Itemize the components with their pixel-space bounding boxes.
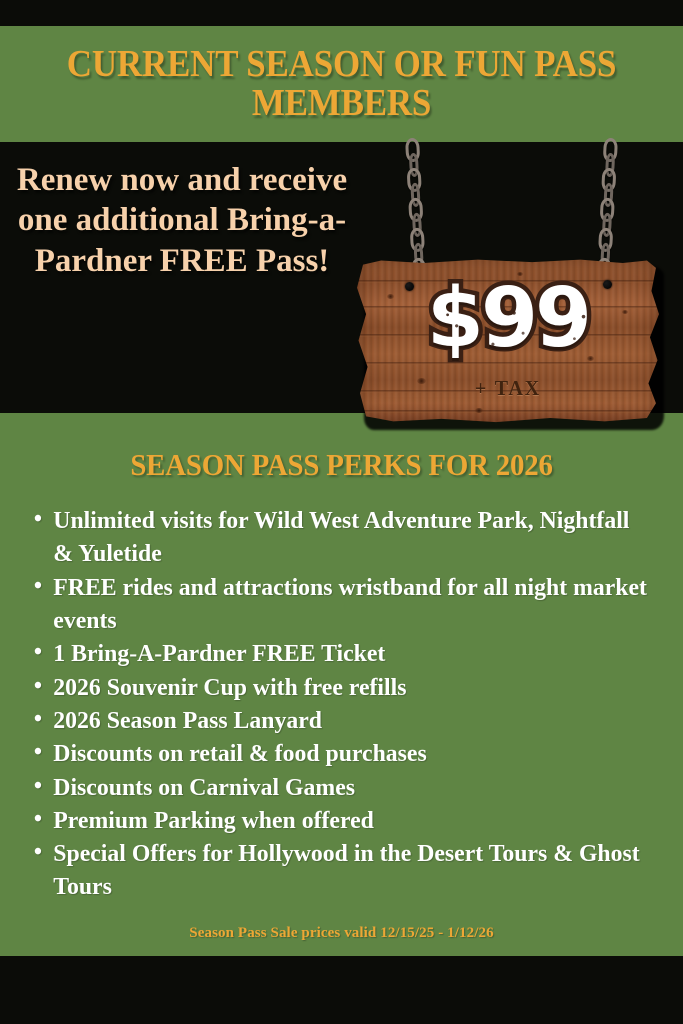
list-item: 2026 Season Pass Lanyard [30,704,651,737]
tax-note: + TAX [365,376,652,401]
list-item: Premium Parking when offered [30,804,651,837]
price-label: $99 [357,278,659,360]
wooden-sign-icon: $99 + TAX [357,258,669,430]
list-item: FREE rides and attractions wristband for… [30,571,651,638]
renew-message: Renew now and receive one additional Bri… [6,160,358,281]
top-black-band [0,0,683,26]
perks-title: SEASON PASS PERKS FOR 2026 [24,447,659,483]
perks-list: Unlimited visits for Wild West Adventure… [30,504,670,904]
wood-knot [475,408,483,413]
list-item: Discounts on retail & food purchases [30,737,651,770]
list-item: Special Offers for Hollywood in the Dese… [30,837,651,904]
promo-poster: CURRENT SEASON OR FUN PASS MEMBERS Renew… [0,0,683,1024]
list-item: 2026 Souvenir Cup with free refills [30,671,651,704]
sale-validity-note: Season Pass Sale prices valid 12/15/25 -… [0,925,683,942]
bottom-black-band [0,956,683,1024]
list-item: Discounts on Carnival Games [30,771,651,804]
wood-plank-line [357,410,659,413]
list-item: Unlimited visits for Wild West Adventure… [30,504,651,571]
page-title: CURRENT SEASON OR FUN PASS MEMBERS [27,26,655,142]
list-item: 1 Bring-A-Pardner FREE Ticket [30,637,651,670]
